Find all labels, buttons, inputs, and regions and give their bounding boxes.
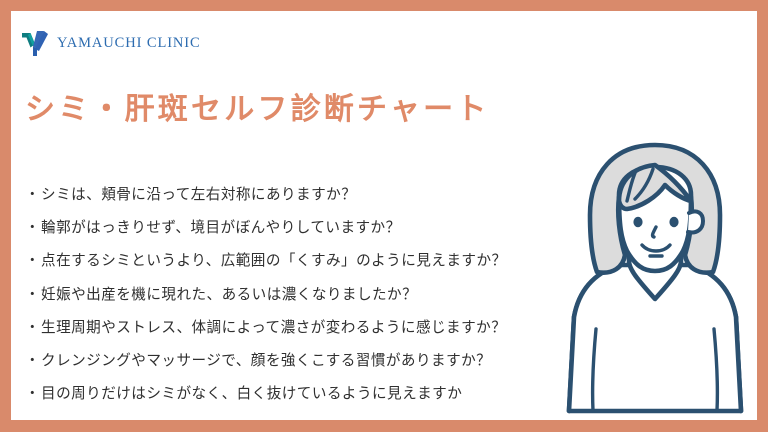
list-item-label: 点在するシミというより、広範囲の「くすみ」のように見えますか？ — [41, 253, 506, 269]
list-bullet: ・ — [25, 320, 40, 336]
list-item: ・生理周期やストレス、体調によって濃さが変わるように感じますか？ — [25, 312, 600, 345]
list-item: ・シミは、頬骨に沿って左右対称にありますか？ — [25, 179, 600, 212]
list-item-label: クレンジングやマッサージで、顔を強くこする習慣がありますか？ — [41, 353, 491, 369]
list-bullet: ・ — [25, 220, 40, 236]
list-item: ・妊娠や出産を機に現れた、あるいは濃くなりましたか？ — [25, 279, 600, 312]
list-item: ・点在するシミというより、広範囲の「くすみ」のように見えますか？ — [25, 245, 600, 278]
list-bullet: ・ — [25, 386, 40, 402]
list-item-label: 妊娠や出産を機に現れた、あるいは濃くなりましたか？ — [41, 287, 417, 303]
yamauchi-clinic-logo-mark-icon — [22, 31, 48, 56]
list-bullet: ・ — [25, 253, 40, 269]
clinic-logo-text: YAMAUCHI CLINIC — [57, 35, 201, 52]
woman-portrait-illustration — [557, 139, 753, 420]
clinic-logo: YAMAUCHI CLINIC — [22, 31, 201, 56]
slide-canvas: YAMAUCHI CLINIC シミ・肝斑セルフ診断チャート ・シミは、頬骨に沿… — [11, 11, 757, 420]
self-check-question-list: ・シミは、頬骨に沿って左右対称にありますか？ ・輪郭がはっきりせず、境目がぼんや… — [25, 179, 600, 411]
list-item-label: シミは、頬骨に沿って左右対称にありますか？ — [41, 187, 356, 203]
list-item: ・輪郭がはっきりせず、境目がぼんやりしていますか？ — [25, 212, 600, 245]
left-eye — [633, 217, 642, 227]
list-bullet: ・ — [25, 287, 40, 303]
woman-portrait-icon — [557, 139, 753, 420]
list-item-label: 目の周りだけはシミがなく、白く抜けているように見えますか — [41, 386, 462, 402]
list-item: ・目の周りだけはシミがなく、白く抜けているように見えますか — [25, 378, 600, 411]
list-item-label: 輪郭がはっきりせず、境目がぼんやりしていますか？ — [41, 220, 401, 236]
list-item: ・クレンジングやマッサージで、顔を強くこする習慣がありますか？ — [25, 345, 600, 378]
page-title: シミ・肝斑セルフ診断チャート — [25, 84, 490, 128]
list-bullet: ・ — [25, 353, 40, 369]
right-eye — [669, 217, 678, 227]
list-bullet: ・ — [25, 187, 40, 203]
slide-frame: YAMAUCHI CLINIC シミ・肝斑セルフ診断チャート ・シミは、頬骨に沿… — [0, 0, 768, 432]
list-item-label: 生理周期やストレス、体調によって濃さが変わるように感じますか？ — [41, 320, 506, 336]
